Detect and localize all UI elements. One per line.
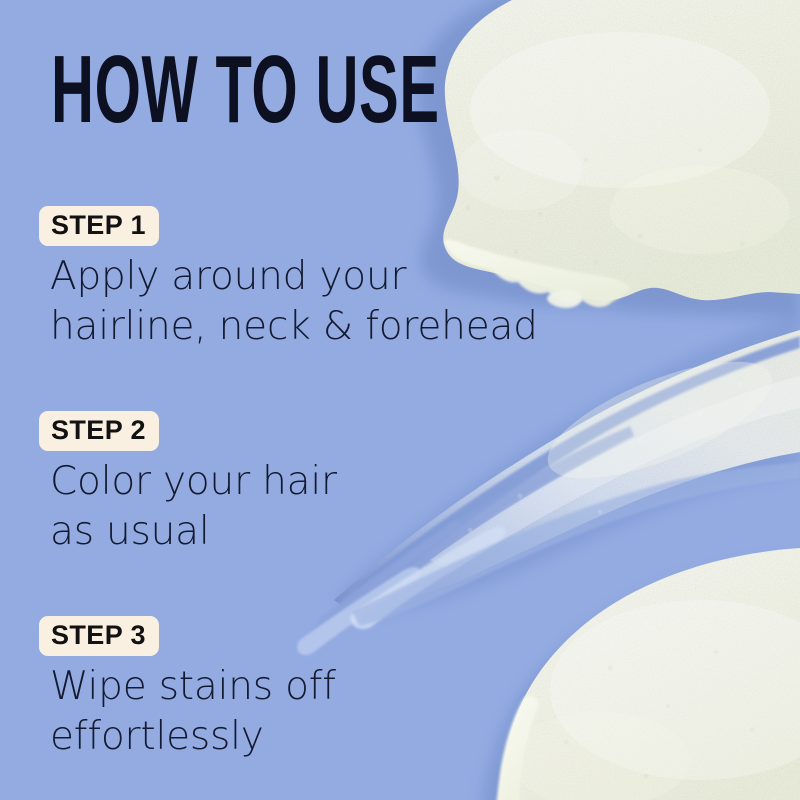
- poster-canvas: HOW TO USE STEP 1 Apply around your hair…: [0, 0, 800, 800]
- step-block-1: STEP 1 Apply around your hairline, neck …: [39, 206, 659, 352]
- step-description-2: Color your hair as usual: [39, 451, 659, 557]
- page-title: HOW TO USE: [51, 42, 440, 138]
- step-description-1: Apply around your hairline, neck & foreh…: [39, 246, 659, 352]
- status-badge-step-3: STEP 3: [39, 616, 159, 656]
- status-badge-step-1: STEP 1: [39, 206, 159, 246]
- poster-content: HOW TO USE STEP 1 Apply around your hair…: [0, 0, 800, 800]
- status-badge-step-2: STEP 2: [39, 411, 159, 451]
- step-block-3: STEP 3 Wipe stains off effortlessly: [39, 616, 659, 762]
- step-block-2: STEP 2 Color your hair as usual: [39, 411, 659, 557]
- step-description-3: Wipe stains off effortlessly: [39, 656, 659, 762]
